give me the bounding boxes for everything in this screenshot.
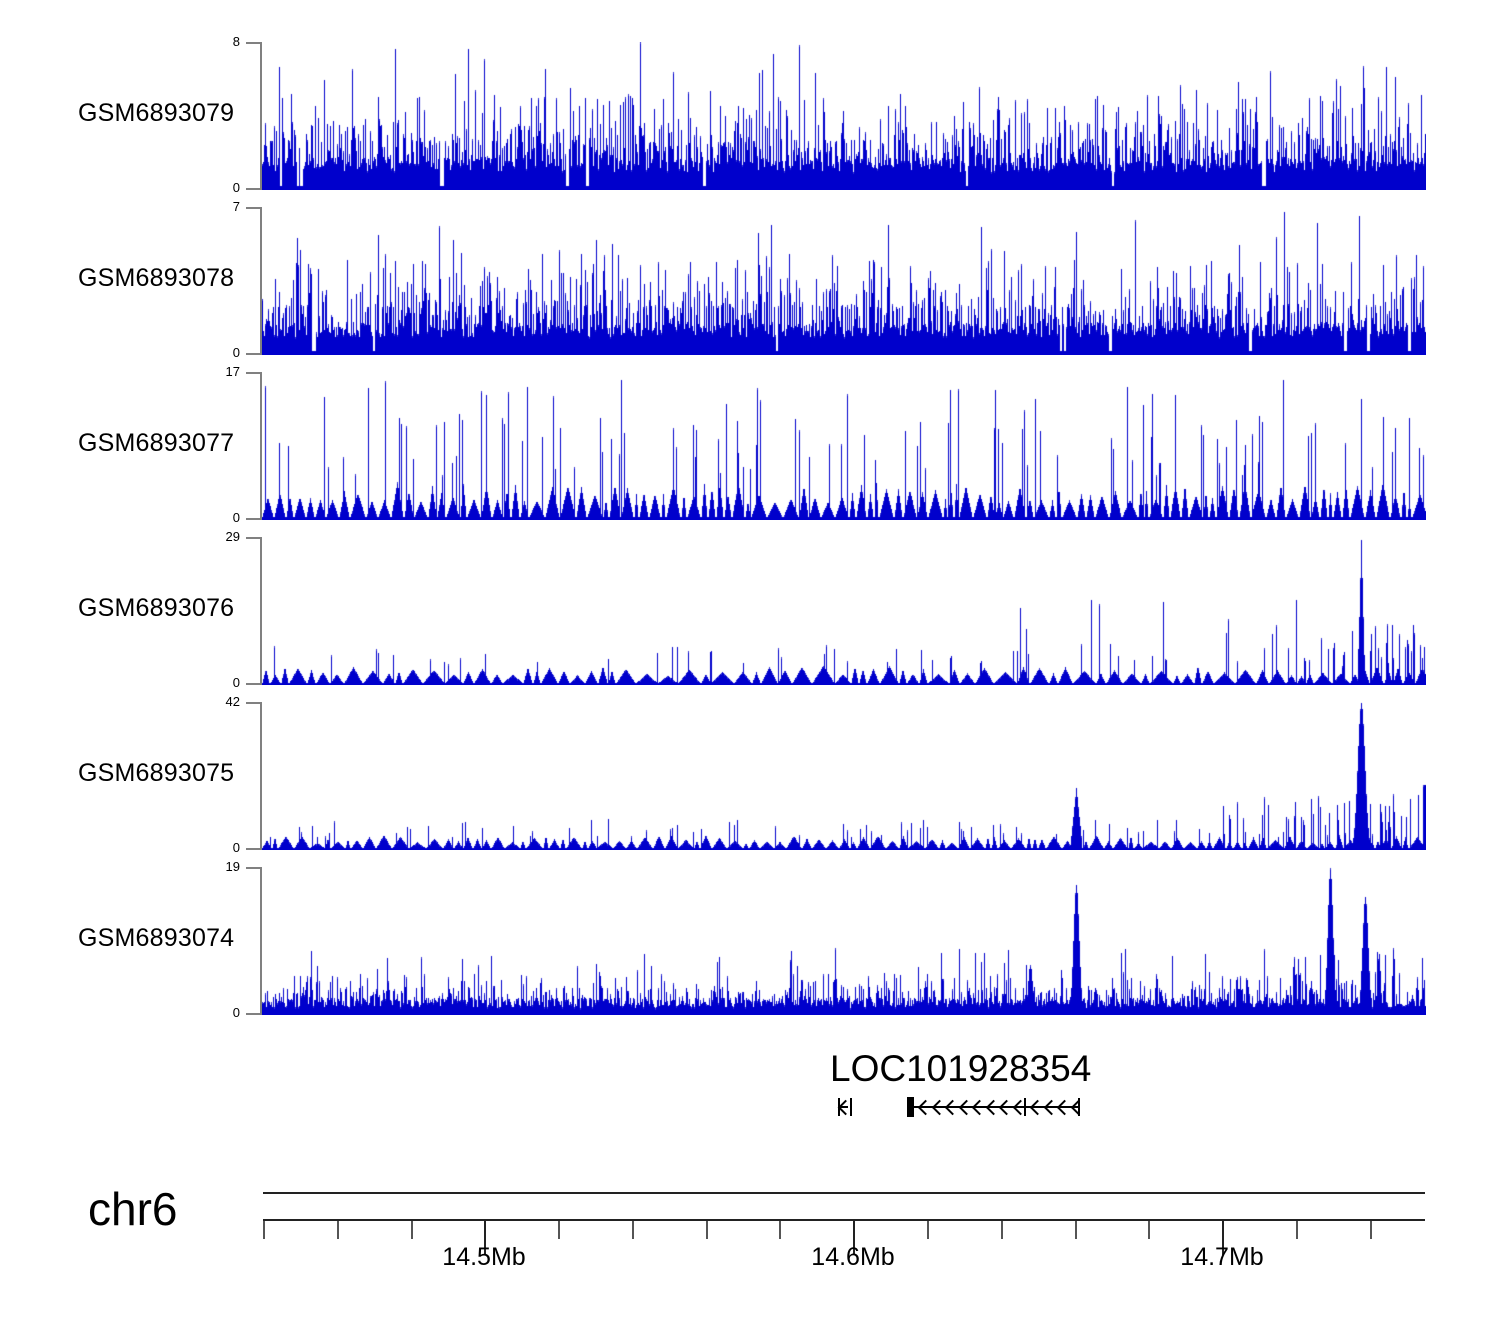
- chromosome-label: chr6: [88, 1182, 177, 1236]
- track-label-gsm6893074: GSM6893074: [78, 924, 234, 953]
- ruler-minor-tick: [1148, 1221, 1150, 1239]
- coverage-canvas: [262, 537, 1426, 685]
- y-axis-tick-max: [246, 537, 260, 539]
- ruler-tick-label: 14.6Mb: [811, 1243, 894, 1272]
- ruler-minor-tick: [558, 1221, 560, 1239]
- ruler-top-line: [263, 1192, 1425, 1194]
- exon-boundary: [850, 1098, 852, 1116]
- y-axis-max-value: 29: [200, 530, 240, 543]
- ruler-minor-tick: [779, 1221, 781, 1239]
- coverage-canvas: [262, 207, 1426, 355]
- coverage-canvas: [262, 702, 1426, 850]
- y-axis-max-value: 19: [200, 860, 240, 873]
- y-axis-tick-min: [246, 188, 260, 190]
- coverage-plot-gsm6893078[interactable]: [262, 207, 1426, 355]
- coverage-plot-gsm6893074[interactable]: [262, 867, 1426, 1015]
- y-axis-tick-max: [246, 372, 260, 374]
- coverage-canvas: [262, 372, 1426, 520]
- ruler-baseline: [263, 1219, 1425, 1221]
- genome-browser-figure: GSM689307980GSM689307870GSM6893077170GSM…: [0, 0, 1500, 1320]
- ruler-minor-tick: [1296, 1221, 1298, 1239]
- exon-boundary: [1078, 1098, 1080, 1116]
- ruler-tick-label: 14.5Mb: [442, 1243, 525, 1272]
- y-axis-min-value: 0: [200, 511, 240, 524]
- y-axis-tick-min: [246, 353, 260, 355]
- coverage-plot-gsm6893077[interactable]: [262, 372, 1426, 520]
- y-axis-tick-min: [246, 848, 260, 850]
- ruler-minor-tick: [632, 1221, 634, 1239]
- y-axis-tick-max: [246, 867, 260, 869]
- ruler-tick-label: 14.7Mb: [1180, 1243, 1263, 1272]
- coverage-plot-gsm6893079[interactable]: [262, 42, 1426, 190]
- track-label-gsm6893076: GSM6893076: [78, 594, 234, 623]
- y-axis-tick-max: [246, 702, 260, 704]
- y-axis-max-value: 7: [200, 200, 240, 213]
- ruler-minor-tick: [706, 1221, 708, 1239]
- y-axis-min-value: 0: [200, 841, 240, 854]
- gene-model[interactable]: [0, 1095, 1500, 1125]
- y-axis-tick-min: [246, 518, 260, 520]
- ruler-minor-tick: [927, 1221, 929, 1239]
- ruler-minor-tick: [1370, 1221, 1372, 1239]
- track-label-gsm6893077: GSM6893077: [78, 429, 234, 458]
- y-axis-max-value: 42: [200, 695, 240, 708]
- y-axis-tick-max: [246, 42, 260, 44]
- ruler-minor-tick: [411, 1221, 413, 1239]
- y-axis-tick-max: [246, 207, 260, 209]
- y-axis-max-value: 8: [200, 35, 240, 48]
- y-axis-min-value: 0: [200, 346, 240, 359]
- y-axis-min-value: 0: [200, 1006, 240, 1019]
- track-label-gsm6893079: GSM6893079: [78, 99, 234, 128]
- y-axis-max-value: 17: [200, 365, 240, 378]
- track-label-gsm6893078: GSM6893078: [78, 264, 234, 293]
- ruler-minor-tick: [337, 1221, 339, 1239]
- exon: [907, 1097, 914, 1117]
- y-axis-tick-min: [246, 1013, 260, 1015]
- gene-name-label: LOC101928354: [830, 1048, 1091, 1090]
- coverage-canvas: [262, 867, 1426, 1015]
- ruler-minor-tick: [1001, 1221, 1003, 1239]
- coverage-plot-gsm6893075[interactable]: [262, 702, 1426, 850]
- track-label-gsm6893075: GSM6893075: [78, 759, 234, 788]
- y-axis-tick-min: [246, 683, 260, 685]
- ruler-minor-tick: [1075, 1221, 1077, 1239]
- y-axis-min-value: 0: [200, 676, 240, 689]
- coverage-canvas: [262, 42, 1426, 190]
- ruler-minor-tick: [263, 1221, 265, 1239]
- coverage-plot-gsm6893076[interactable]: [262, 537, 1426, 685]
- y-axis-min-value: 0: [200, 181, 240, 194]
